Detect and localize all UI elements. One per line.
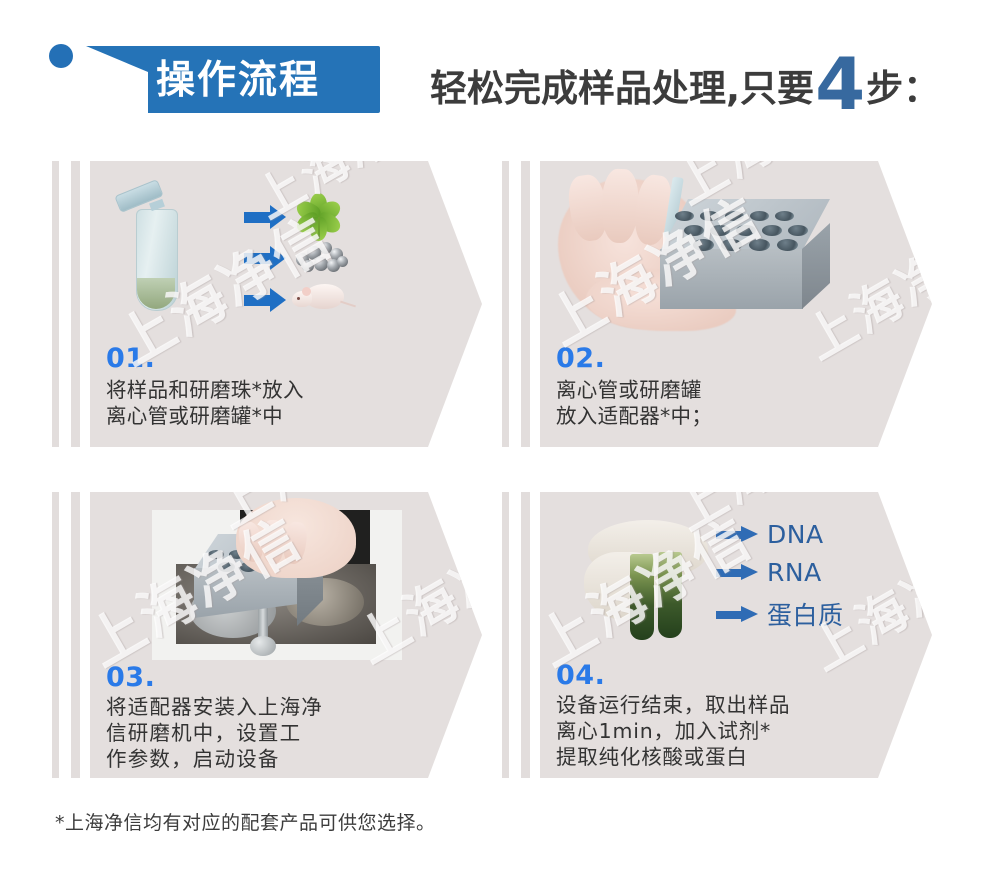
right-arrow-icon [716, 526, 758, 543]
step-card-2: 02. 离心管或研磨罐 放入适配器*中； 上海净信 上海净信 上海净信 [540, 161, 932, 447]
output-row-dna: DNA [716, 520, 824, 549]
left-arrow-icon-1 [242, 205, 286, 230]
sample-vial-icon [658, 552, 682, 638]
right-arrow-icon [716, 564, 758, 581]
infographic-page: 操作流程 轻松完成样品处理,只要 4 步： [0, 0, 1000, 875]
grinding-beads-icon [294, 241, 350, 273]
step-2-text: 离心管或研磨罐 放入适配器*中； [556, 377, 866, 429]
step-card-4: DNA RNA 蛋白质 04. 设备运行结束，取出样品 离心1min，加入试剂*… [540, 492, 932, 778]
card-4-accent-bar-outer [502, 492, 509, 778]
blue-dot-icon [49, 44, 73, 68]
step-4-number: 04. [556, 660, 605, 691]
step-3-text: 将适配器安装入上海净 信研磨机中，设置工 作参数，启动设备 [106, 694, 426, 772]
card-4-accent-bar-inner [521, 492, 530, 778]
right-arrow-icon [716, 606, 758, 623]
header: 操作流程 轻松完成样品处理,只要 4 步： [0, 0, 1000, 140]
step-4-text: 设备运行结束，取出样品 离心1min，加入试剂* 提取纯化核酸或蛋白 [556, 692, 876, 770]
card-2-accent-bar-outer [502, 161, 509, 447]
ribbon-label: 操作流程 [118, 52, 358, 110]
left-arrow-icon-2 [242, 246, 286, 271]
left-arrow-icon-3 [242, 288, 286, 313]
output-label-rna: RNA [767, 558, 822, 587]
centrifuge-tube-icon [110, 183, 200, 323]
output-label-protein: 蛋白质 [767, 596, 844, 632]
step-1-number: 01. [106, 343, 155, 374]
sample-vial-icon [630, 554, 654, 640]
headline-after: 步： [866, 58, 940, 112]
card-2-accent-bar-inner [521, 161, 530, 447]
step-2-number: 02. [556, 343, 605, 374]
step-4-illustration: DNA RNA 蛋白质 [540, 492, 878, 667]
plant-leaf-icon [296, 193, 342, 239]
step-2-illustration [540, 161, 878, 336]
footnote: *上海净信均有对应的配套产品可供您选择。 [55, 808, 436, 835]
step-1-text: 将样品和研磨珠*放入 离心管或研磨罐*中 [106, 377, 416, 429]
card-3-accent-bar-inner [71, 492, 80, 778]
headline-before: 轻松完成样品处理,只要 [430, 58, 814, 112]
lab-mouse-icon [292, 279, 358, 317]
step-card-3: 03. 将适配器安装入上海净 信研磨机中，设置工 作参数，启动设备 上海净信 上… [90, 492, 482, 778]
step-3-illustration [90, 492, 428, 667]
card-1-accent-bar-outer [52, 161, 59, 447]
output-row-protein: 蛋白质 [716, 596, 844, 632]
output-label-dna: DNA [767, 520, 824, 549]
adapter-block-front [660, 249, 803, 309]
headline-step-count: 4 [815, 56, 865, 114]
step-3-number: 03. [106, 662, 155, 693]
step-1-illustration [90, 161, 428, 336]
output-row-rna: RNA [716, 558, 822, 587]
card-1-accent-bar-inner [71, 161, 80, 447]
step-card-1: 01. 将样品和研磨珠*放入 离心管或研磨罐*中 上海净信 上海净信 [90, 161, 482, 447]
headline: 轻松完成样品处理,只要 4 步： [430, 48, 940, 110]
card-3-accent-bar-outer [52, 492, 59, 778]
